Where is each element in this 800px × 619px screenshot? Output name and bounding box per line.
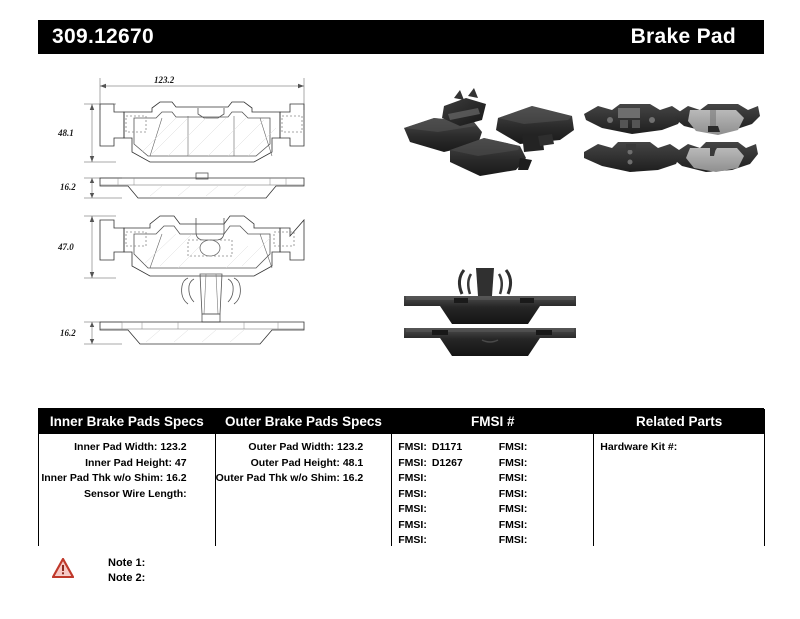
technical-drawings-panel: 123.2 48.1 16.2 47.0 16.2 [38, 66, 378, 386]
fmsi-body: FMSI:D1171 FMSI:D1267 FMSI: FMSI: FMSI: … [392, 434, 593, 546]
dimension-label-inner-thickness: 16.2 [60, 328, 76, 338]
pad-pair-grid-photo [580, 96, 760, 182]
related-parts-column: Related Parts Hardware Kit #: [593, 409, 765, 546]
fmsi-label: FMSI: [398, 488, 427, 500]
fmsi-label: FMSI: [398, 457, 427, 469]
fmsi-row: FMSI:D1171 [398, 440, 492, 456]
fmsi-value [427, 488, 432, 500]
fmsi-value [427, 472, 432, 484]
fmsi-row: FMSI: [499, 502, 593, 518]
fmsi-row: FMSI: [499, 456, 593, 472]
related-parts-header: Related Parts [594, 409, 764, 434]
fmsi-label: FMSI: [499, 457, 528, 469]
fmsi-row: FMSI: [499, 471, 593, 487]
fmsi-row: FMSI: [398, 487, 492, 503]
notes-section: Note 1: Note 2: [52, 556, 145, 586]
related-parts-body: Hardware Kit #: [594, 434, 764, 546]
inner-specs-header: Inner Brake Pads Specs [39, 409, 215, 434]
note-line-1: Note 1: [108, 556, 145, 571]
fmsi-value [527, 519, 532, 531]
fmsi-value [527, 503, 532, 515]
fmsi-value: D1171 [427, 441, 462, 453]
spec-sensor-wire-length: Sensor Wire Length: [39, 487, 215, 503]
fmsi-row: FMSI: [499, 487, 593, 503]
fmsi-header: FMSI # [392, 409, 593, 434]
header-bar: 309.12670 Brake Pad [38, 20, 764, 54]
fmsi-row: FMSI: [398, 533, 492, 549]
outer-specs-header: Outer Brake Pads Specs [216, 409, 392, 434]
fmsi-row: FMSI: [398, 502, 492, 518]
inner-specs-body: Inner Pad Width: 123.2 Inner Pad Height:… [39, 434, 215, 546]
fmsi-row: FMSI:D1267 [398, 456, 492, 472]
fmsi-subcolumn-right: FMSI: FMSI: FMSI: FMSI: FMSI: FMSI: [493, 440, 593, 546]
fmsi-row: FMSI: [499, 440, 593, 456]
fmsi-row: FMSI: [398, 471, 492, 487]
spec-inner-pad-thickness: Inner Pad Thk w/o Shim: 16.2 [39, 471, 215, 487]
spec-inner-pad-width: Inner Pad Width: 123.2 [39, 440, 215, 456]
fmsi-label: FMSI: [398, 472, 427, 484]
dimension-label-outer-height: 48.1 [58, 128, 74, 138]
fmsi-label: FMSI: [499, 503, 528, 515]
outer-specs-body: Outer Pad Width: 123.2 Outer Pad Height:… [216, 434, 392, 546]
fmsi-value [427, 534, 432, 546]
fmsi-row: FMSI: [398, 518, 492, 534]
fmsi-value [527, 488, 532, 500]
notes-text-block: Note 1: Note 2: [108, 556, 145, 586]
part-number: 309.12670 [38, 25, 154, 49]
dimension-label-inner-height: 47.0 [58, 242, 74, 252]
fmsi-value [527, 534, 532, 546]
brake-pad-line-drawings [38, 66, 378, 386]
fmsi-row: FMSI: [499, 518, 593, 534]
angled-pad-set-photo [398, 84, 578, 184]
fmsi-label: FMSI: [499, 441, 528, 453]
fmsi-value [527, 441, 532, 453]
pad-edge-view-photo [396, 262, 586, 362]
spec-outer-pad-width: Outer Pad Width: 123.2 [216, 440, 392, 456]
fmsi-label: FMSI: [398, 534, 427, 546]
fmsi-label: FMSI: [499, 488, 528, 500]
fmsi-value [527, 472, 532, 484]
spec-hardware-kit-number: Hardware Kit #: [594, 440, 764, 456]
specifications-table: Inner Brake Pads Specs Inner Pad Width: … [38, 408, 764, 546]
fmsi-label: FMSI: [398, 503, 427, 515]
note-line-2: Note 2: [108, 571, 145, 586]
spec-outer-pad-thickness: Outer Pad Thk w/o Shim: 16.2 [216, 471, 392, 487]
fmsi-value [427, 519, 432, 531]
fmsi-row: FMSI: [499, 533, 593, 549]
fmsi-label: FMSI: [398, 441, 427, 453]
fmsi-value [427, 503, 432, 515]
fmsi-label: FMSI: [499, 472, 528, 484]
inner-specs-column: Inner Brake Pads Specs Inner Pad Width: … [38, 409, 216, 546]
spec-outer-pad-height: Outer Pad Height: 48.1 [216, 456, 392, 472]
warning-triangle-icon [52, 558, 74, 578]
fmsi-label: FMSI: [398, 519, 427, 531]
fmsi-label: FMSI: [499, 534, 528, 546]
fmsi-value: D1267 [427, 457, 463, 469]
fmsi-value [527, 457, 532, 469]
fmsi-label: FMSI: [499, 519, 528, 531]
product-type-title: Brake Pad [631, 25, 764, 49]
fmsi-subcolumn-left: FMSI:D1171 FMSI:D1267 FMSI: FMSI: FMSI: … [392, 440, 492, 546]
outer-specs-column: Outer Brake Pads Specs Outer Pad Width: … [215, 409, 393, 546]
spec-inner-pad-height: Inner Pad Height: 47 [39, 456, 215, 472]
fmsi-column: FMSI # FMSI:D1171 FMSI:D1267 FMSI: FMSI:… [391, 409, 594, 546]
dimension-label-outer-width: 123.2 [154, 75, 174, 85]
dimension-label-outer-thickness: 16.2 [60, 182, 76, 192]
